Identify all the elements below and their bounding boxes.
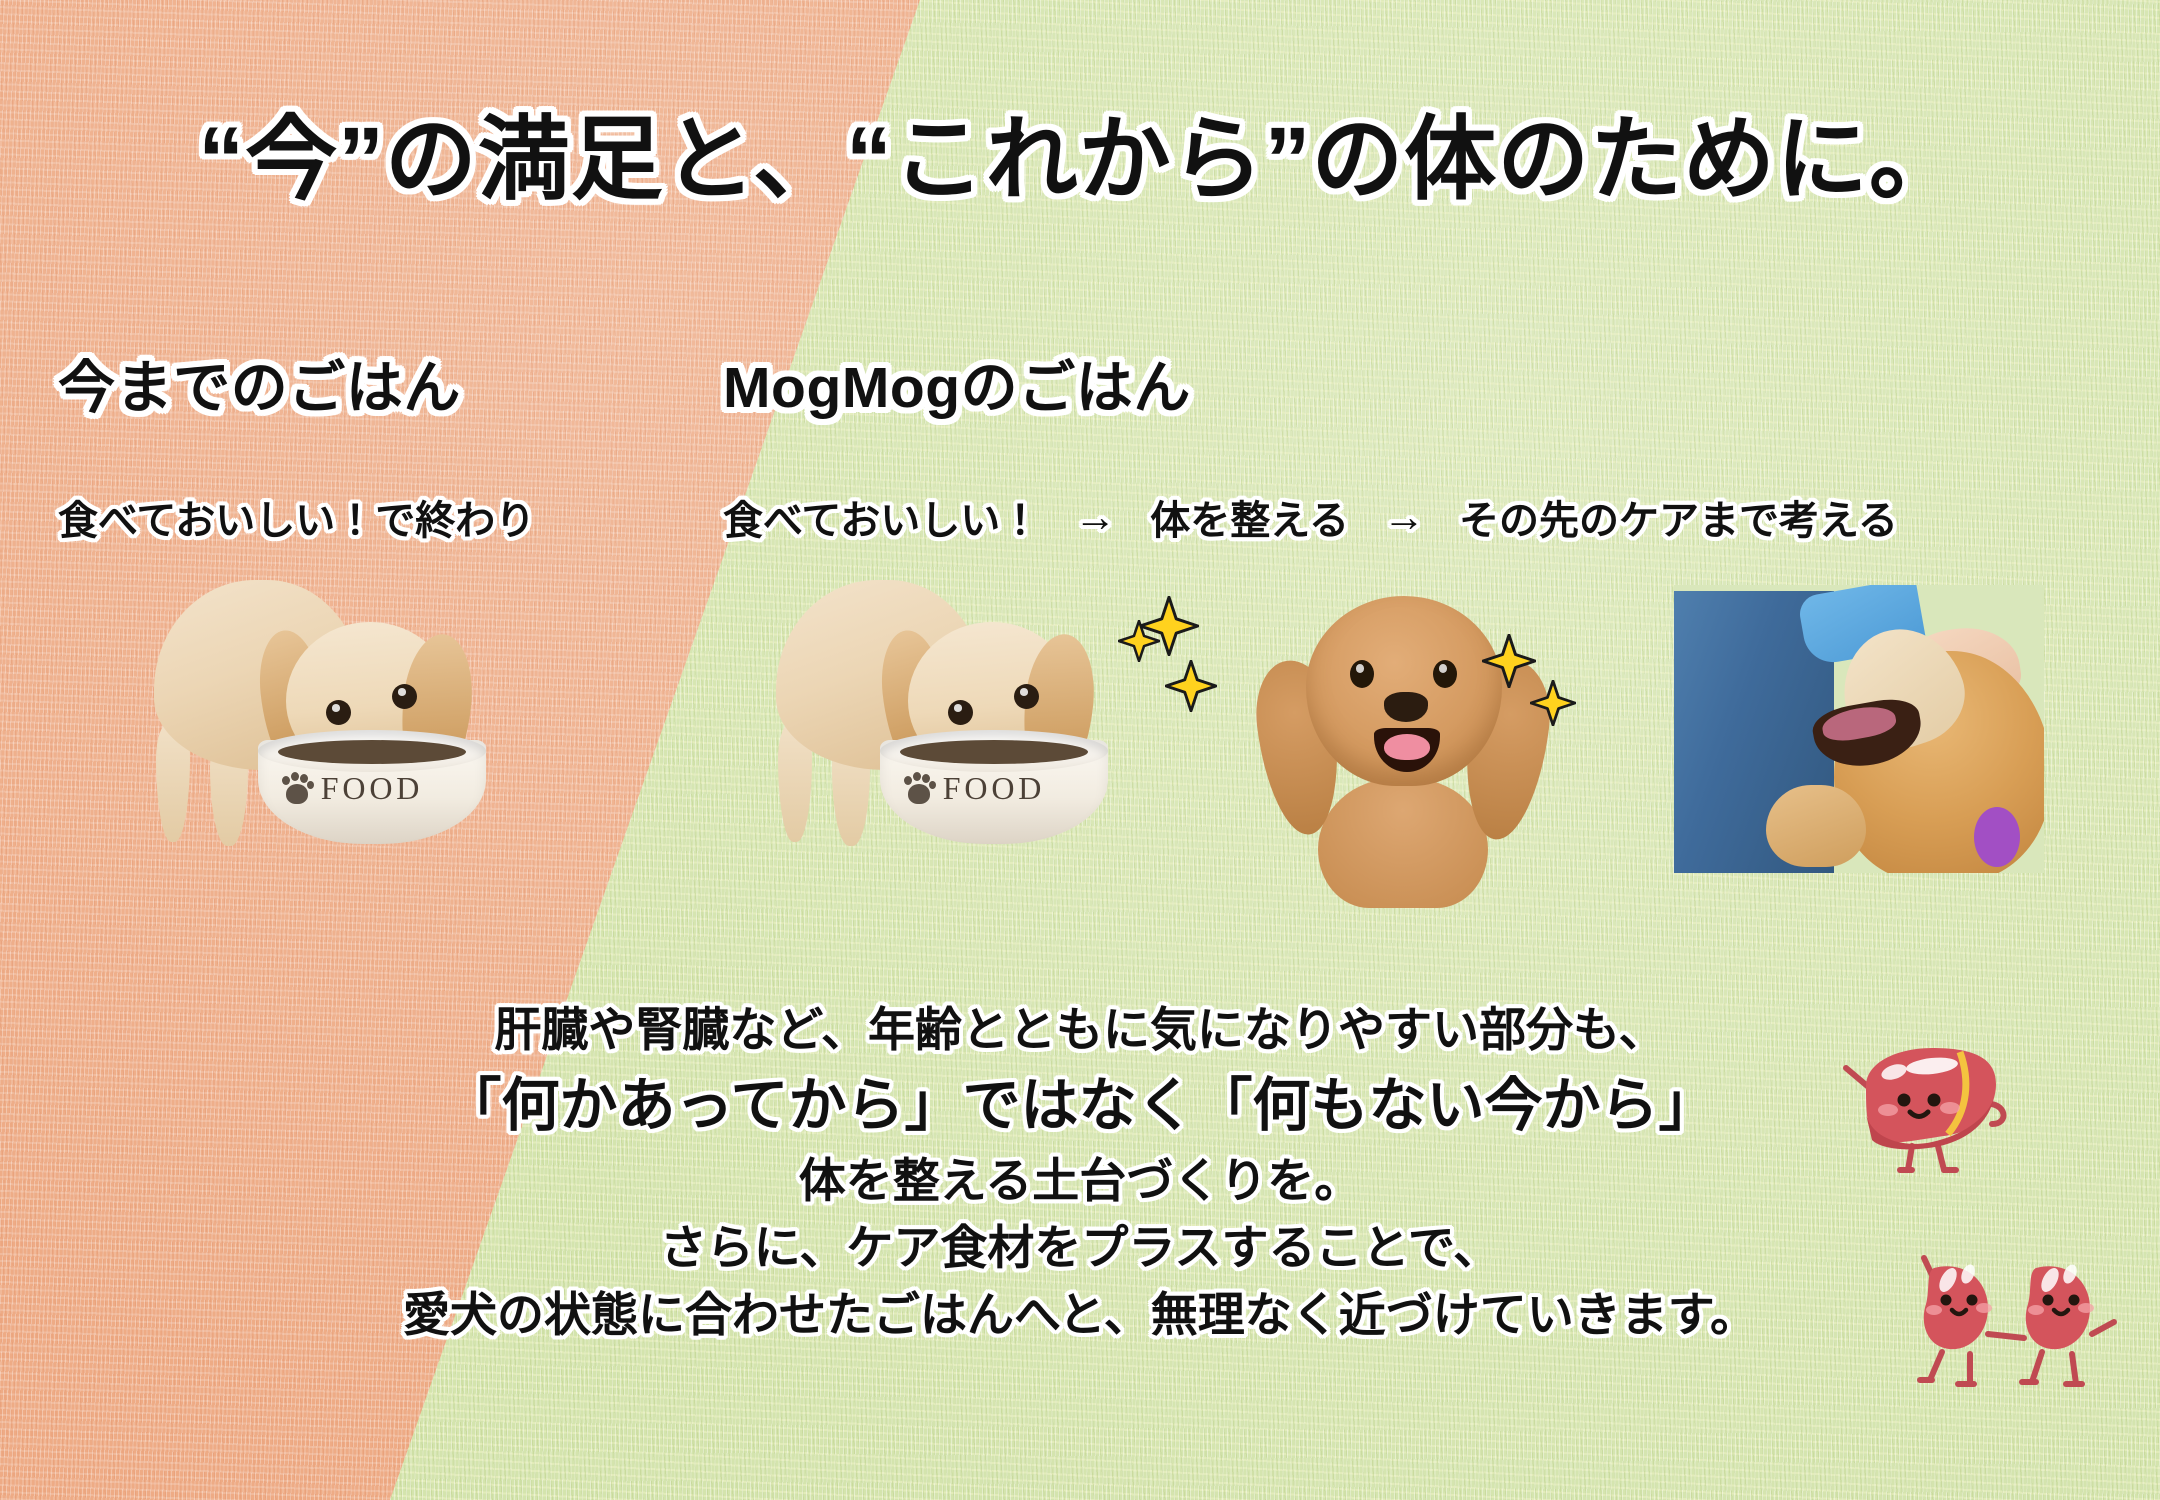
liver-character-icon [1820, 1028, 2035, 1178]
paw-print-icon [280, 772, 314, 806]
body-line-4: さらに、ケア食材をプラスすることで、 [0, 1224, 2160, 1271]
photo-smiling-poodle [1258, 588, 1548, 868]
poster-canvas: “今”の満足と、“これから”の体のために。 今までのごはん MogMogのごはん… [0, 0, 2160, 1500]
photo-puppy-eating-left: FOOD [140, 572, 500, 862]
body-line-5: 愛犬の状態に合わせたごはんへと、無理なく近づけていきます。 [0, 1291, 2160, 1338]
photo-golden-retriever-petted [1674, 585, 2044, 873]
arrow-right-icon: → [1349, 493, 1459, 541]
sparkle-icon [1482, 634, 1536, 688]
kidney-characters-icon [1896, 1238, 2126, 1403]
caption-mogmog-steps: 食べておいしい！ → 体を整える → その先のケアまで考える [723, 488, 1898, 546]
step-2-label: 体を整える [1150, 488, 1349, 546]
column-title-mogmog: MogMogのごはん [723, 342, 1191, 424]
sparkle-icon [1165, 660, 1217, 712]
sparkle-icon [1530, 680, 1576, 726]
sparkle-icon [1118, 620, 1160, 662]
caption-before: 食べておいしい！で終わり [58, 488, 535, 546]
paw-print-icon [902, 772, 936, 806]
step-1-label: 食べておいしい！ [723, 488, 1040, 546]
photo-puppy-eating-right: FOOD [762, 572, 1122, 862]
step-3-label: その先のケアまで考える [1459, 488, 1898, 546]
arrow-right-icon: → [1040, 493, 1150, 541]
column-title-before: 今までのごはん [58, 342, 461, 424]
page-title: “今”の満足と、“これから”の体のために。 [0, 112, 2160, 209]
